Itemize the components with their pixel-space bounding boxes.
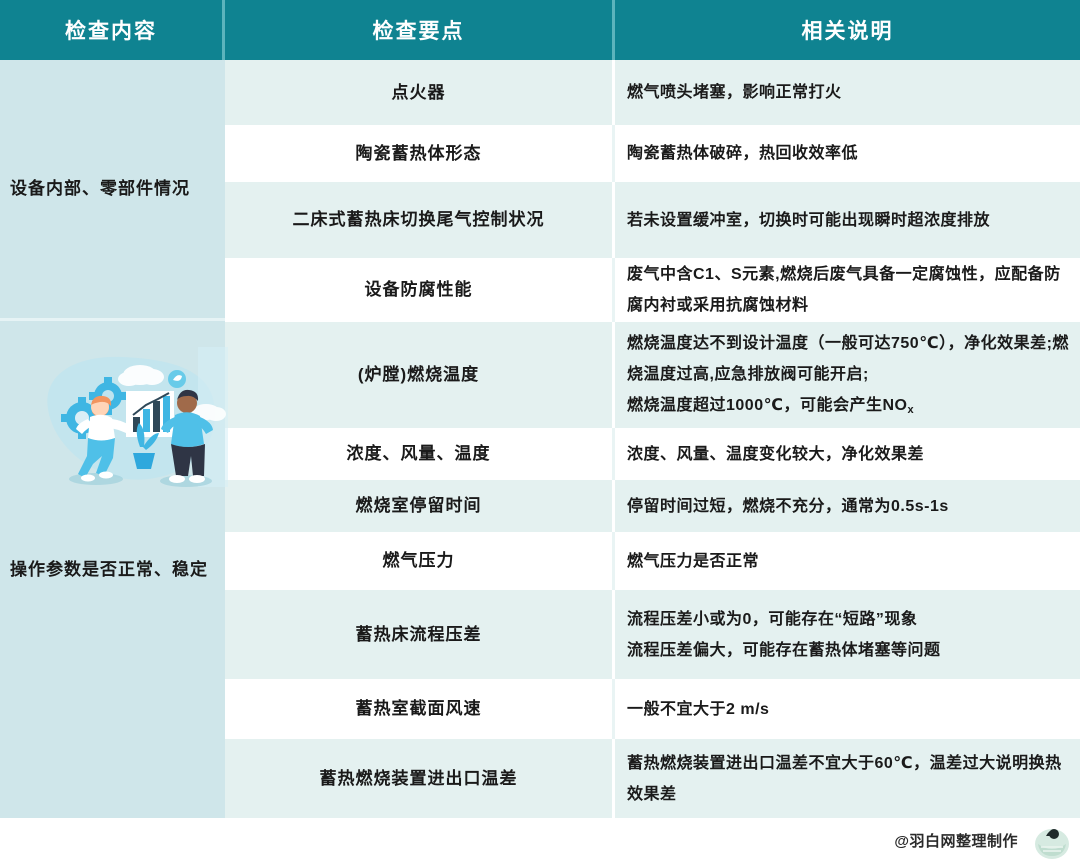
cell-inspection-point: 蓄热床流程压差 — [225, 590, 615, 679]
column-header-inspection-content: 检查内容 — [0, 0, 225, 60]
note-line: 浓度、风量、温度变化较大，净化效果差 — [627, 439, 924, 470]
cell-inspection-point: 燃烧室停留时间 — [225, 480, 615, 532]
note-line: 流程压差偏大，可能存在蓄热体堵塞等问题 — [627, 635, 941, 666]
cell-inspection-point: 点火器 — [225, 60, 615, 125]
cell-related-note: 陶瓷蓄热体破碎，热回收效率低 — [615, 125, 1080, 182]
cell-related-note: 燃烧温度达不到设计温度（一般可达750℃），净化效果差;燃烧温度过高,应急排放阀… — [615, 322, 1080, 428]
group-label: 设备内部、零部件情况 — [10, 172, 190, 206]
cell-related-note: 燃气压力是否正常 — [615, 532, 1080, 590]
note-line: 燃烧温度超过1000℃，可能会产生NOx — [627, 390, 1070, 423]
note-line: 蓄热燃烧装置进出口温差不宜大于60℃，温差过大说明换热效果差 — [627, 748, 1070, 810]
table-row[interactable]: 蓄热燃烧装置进出口温差 蓄热燃烧装置进出口温差不宜大于60℃，温差过大说明换热效… — [225, 739, 1080, 818]
column-header-inspection-points: 检查要点 — [225, 0, 615, 60]
group-label: 操作参数是否正常、稳定 — [10, 553, 208, 587]
note-line: 废气中含C1、S元素,燃烧后废气具备一定腐蚀性，应配备防腐内衬或采用抗腐蚀材料 — [627, 259, 1070, 321]
cell-related-note: 燃气喷头堵塞，影响正常打火 — [615, 60, 1080, 125]
footer: @羽白网整理制作 — [0, 820, 1080, 862]
table-body: 设备内部、零部件情况 — [0, 60, 1080, 818]
cell-related-note: 蓄热燃烧装置进出口温差不宜大于60℃，温差过大说明换热效果差 — [615, 739, 1080, 818]
inspection-table: 检查内容 检查要点 相关说明 设备内部、零部件情况 — [0, 0, 1080, 818]
cell-related-note: 废气中含C1、S元素,燃烧后废气具备一定腐蚀性，应配备防腐内衬或采用抗腐蚀材料 — [615, 258, 1080, 322]
cell-inspection-point: 蓄热室截面风速 — [225, 679, 615, 739]
table-row[interactable]: 陶瓷蓄热体形态 陶瓷蓄热体破碎，热回收效率低 — [225, 125, 1080, 182]
table-row[interactable]: 二床式蓄热床切换尾气控制状况 若未设置缓冲室，切换时可能出现瞬时超浓度排放 — [225, 182, 1080, 258]
group-cell-equipment-internal: 设备内部、零部件情况 — [0, 60, 225, 318]
cell-related-note: 一般不宜大于2 m/s — [615, 679, 1080, 739]
cell-inspection-point: 燃气压力 — [225, 532, 615, 590]
cell-inspection-point: 浓度、风量、温度 — [225, 428, 615, 480]
teamwork-illustration — [30, 339, 230, 504]
table-row[interactable]: 设备防腐性能 废气中含C1、S元素,燃烧后废气具备一定腐蚀性，应配备防腐内衬或采… — [225, 258, 1080, 322]
cell-inspection-point: 设备防腐性能 — [225, 258, 615, 322]
cell-related-note: 浓度、风量、温度变化较大，净化效果差 — [615, 428, 1080, 480]
rows-column: 点火器 燃气喷头堵塞，影响正常打火 陶瓷蓄热体形态 陶瓷蓄热体破碎，热回收效率低… — [225, 60, 1080, 818]
subscript-x: x — [907, 404, 914, 416]
cell-inspection-point: 蓄热燃烧装置进出口温差 — [225, 739, 615, 818]
cell-inspection-point: 陶瓷蓄热体形态 — [225, 125, 615, 182]
note-line: 流程压差小或为0，可能存在“短路”现象 — [627, 604, 941, 635]
note-line: 燃气压力是否正常 — [627, 546, 759, 577]
group-cell-operating-parameters: 操作参数是否正常、稳定 — [0, 318, 225, 818]
note-line: 若未设置缓冲室，切换时可能出现瞬时超浓度排放 — [627, 205, 990, 236]
table-header-row: 检查内容 检查要点 相关说明 — [0, 0, 1080, 60]
table-row[interactable]: (炉膛)燃烧温度 燃烧温度达不到设计温度（一般可达750℃），净化效果差;燃烧温… — [225, 322, 1080, 428]
cell-inspection-point: (炉膛)燃烧温度 — [225, 322, 615, 428]
note-line: 停留时间过短，燃烧不充分，通常为0.5s-1s — [627, 491, 949, 522]
column-header-related-notes: 相关说明 — [615, 0, 1080, 60]
cell-inspection-point: 二床式蓄热床切换尾气控制状况 — [225, 182, 615, 258]
watermark-text: @羽白网整理制作 — [894, 830, 1018, 851]
cell-related-note: 若未设置缓冲室，切换时可能出现瞬时超浓度排放 — [615, 182, 1080, 258]
table-row[interactable]: 燃烧室停留时间 停留时间过短，燃烧不充分，通常为0.5s-1s — [225, 480, 1080, 532]
table-row[interactable]: 蓄热床流程压差 流程压差小或为0，可能存在“短路”现象 流程压差偏大，可能存在蓄… — [225, 590, 1080, 679]
table-row[interactable]: 燃气压力 燃气压力是否正常 — [225, 532, 1080, 590]
table-row[interactable]: 蓄热室截面风速 一般不宜大于2 m/s — [225, 679, 1080, 739]
note-line: 陶瓷蓄热体破碎，热回收效率低 — [627, 138, 858, 169]
group-column: 设备内部、零部件情况 — [0, 60, 225, 818]
brand-logo-icon — [1032, 822, 1072, 860]
note-line: 燃气喷头堵塞，影响正常打火 — [627, 77, 842, 108]
note-line: 燃烧温度达不到设计温度（一般可达750℃），净化效果差;燃烧温度过高,应急排放阀… — [627, 328, 1070, 390]
note-line: 一般不宜大于2 m/s — [627, 694, 769, 725]
page-root: 检查内容 检查要点 相关说明 设备内部、零部件情况 — [0, 0, 1080, 862]
cell-related-note: 流程压差小或为0，可能存在“短路”现象 流程压差偏大，可能存在蓄热体堵塞等问题 — [615, 590, 1080, 679]
cell-related-note: 停留时间过短，燃烧不充分，通常为0.5s-1s — [615, 480, 1080, 532]
table-row[interactable]: 浓度、风量、温度 浓度、风量、温度变化较大，净化效果差 — [225, 428, 1080, 480]
table-row[interactable]: 点火器 燃气喷头堵塞，影响正常打火 — [225, 60, 1080, 125]
